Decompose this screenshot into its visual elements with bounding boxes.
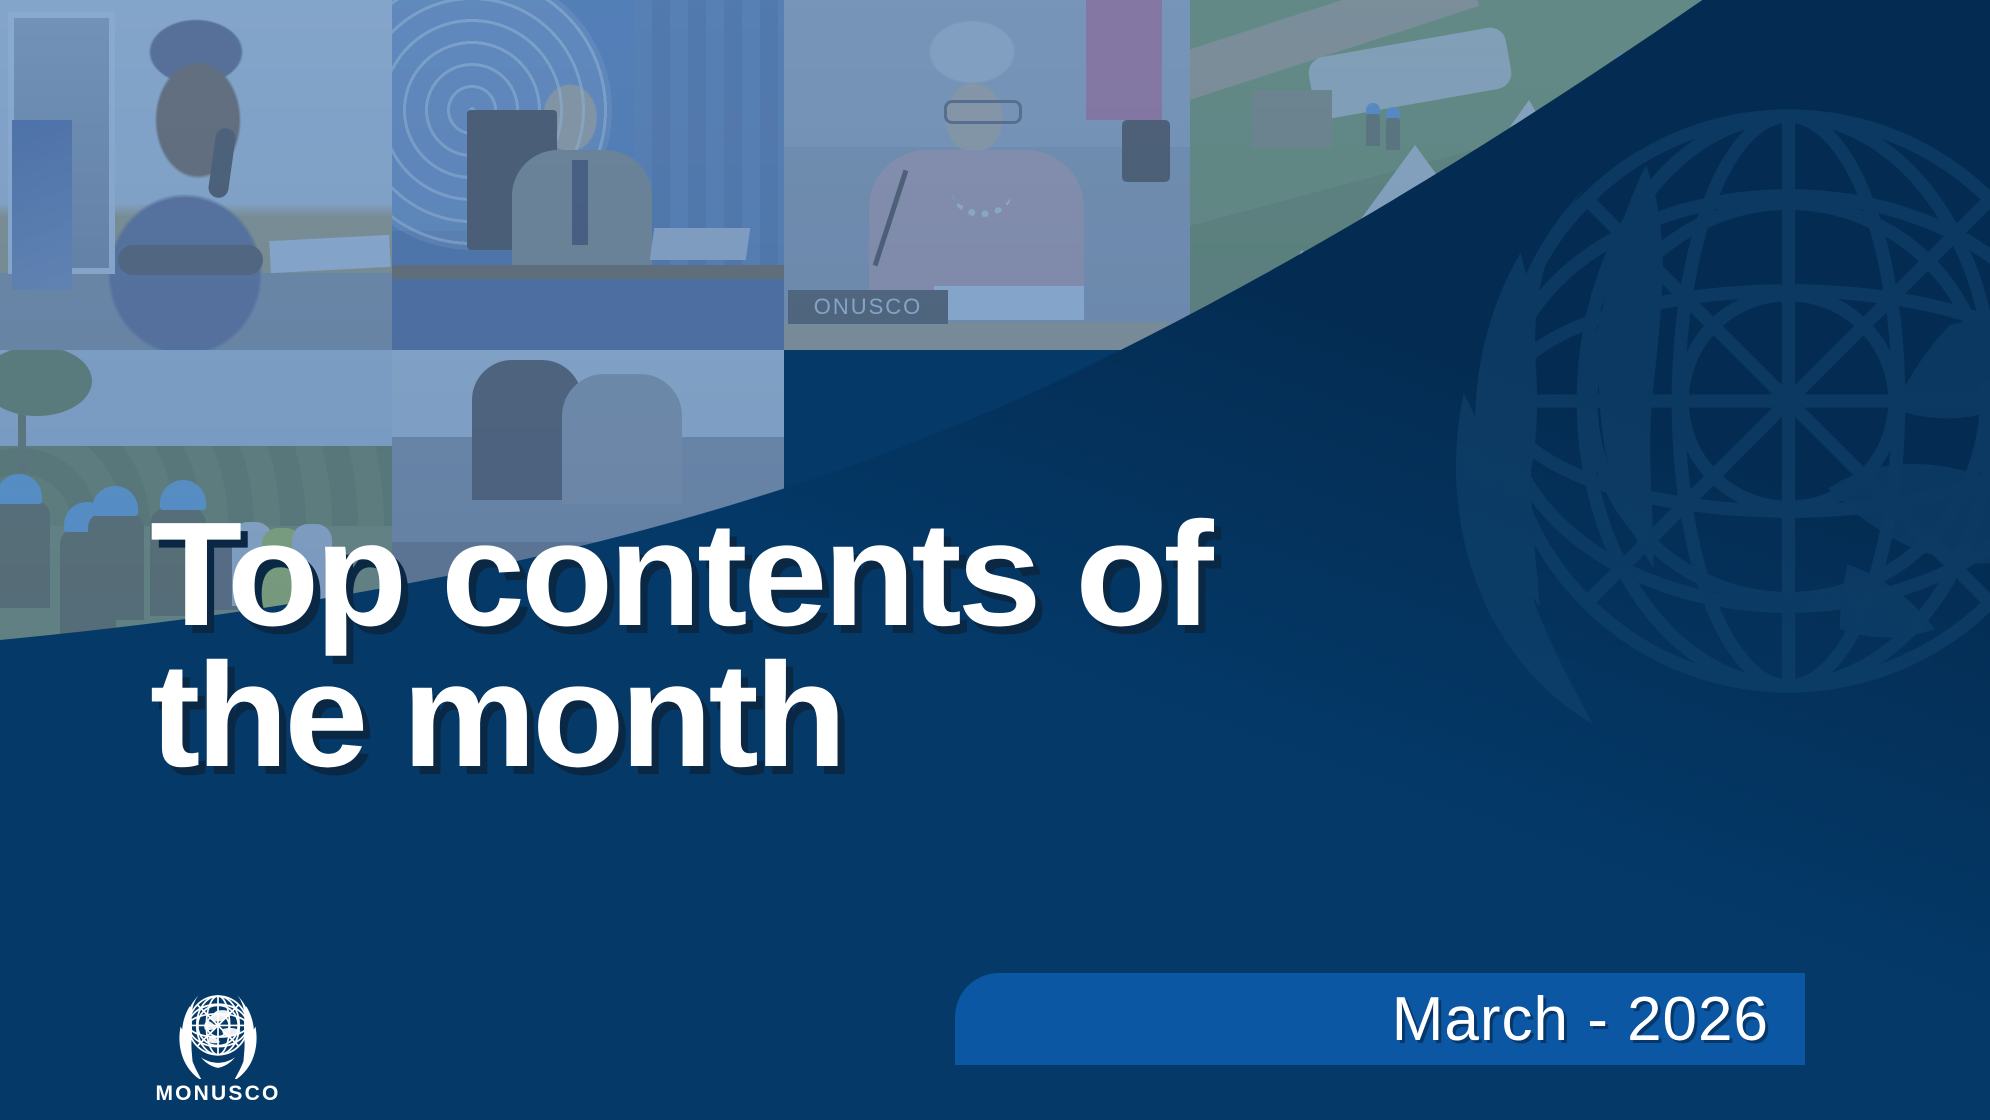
date-label: March - 2026 xyxy=(1392,984,1769,1055)
collage-photo-press-briefing xyxy=(392,0,784,350)
photo-wash-overlay xyxy=(0,0,392,350)
date-badge: March - 2026 xyxy=(955,973,1805,1065)
un-emblem-icon xyxy=(166,983,270,1079)
monusco-wordmark: MONUSCO xyxy=(152,1082,284,1106)
collage-photo-woman-microphone xyxy=(0,0,392,350)
poster-canvas: ONUSCO xyxy=(0,0,1990,1120)
photo-wash-overlay xyxy=(784,0,1190,350)
photo-wash-overlay xyxy=(392,0,784,350)
page-title: Top contents of the month xyxy=(150,505,1210,786)
collage-photo-security-council: ONUSCO xyxy=(784,0,1190,350)
monusco-logo: MONUSCO xyxy=(152,983,284,1106)
